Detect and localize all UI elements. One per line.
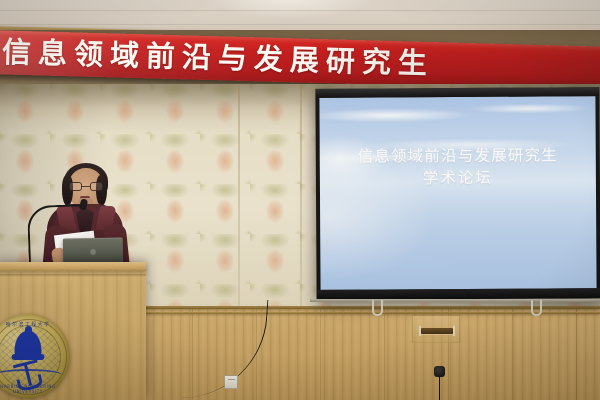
screen-hook-icon [531, 300, 542, 316]
wall-outlet[interactable] [224, 375, 238, 389]
panel-screw [453, 326, 455, 336]
socket-cable [439, 376, 440, 400]
slide-title-line1: 信息领域前沿与发展研究生 [320, 144, 596, 168]
microphone-gooseneck [27, 204, 89, 270]
emblem-chinese-text: 哈尔滨工程大学 [0, 321, 70, 328]
glasses-lens [90, 182, 103, 191]
university-emblem: 哈尔滨工程大学 HARBIN ENGINEERING UNIVERSITY [0, 314, 70, 398]
conference-hall-photo: 信息领域前沿与发展研究生 信息领域前沿与发展研究生 学术论坛 [0, 0, 600, 400]
slide-title: 信息领域前沿与发展研究生 学术论坛 [320, 144, 596, 191]
podium-top-surface [0, 262, 146, 271]
projection-screen: 信息领域前沿与发展研究生 学术论坛 [315, 87, 600, 300]
screen-mount-rail [310, 299, 600, 302]
access-panel[interactable] [412, 315, 460, 343]
banner-text: 信息领域前沿与发展研究生 [2, 38, 435, 79]
slide-title-line2: 学术论坛 [320, 167, 596, 191]
screen-surface: 信息领域前沿与发展研究生 学术论坛 [319, 96, 596, 290]
laptop-logo [90, 249, 96, 255]
glasses-icon [69, 182, 103, 191]
emblem-english-text: HARBIN ENGINEERING UNIVERSITY [0, 384, 70, 394]
ceiling-seam [0, 24, 600, 25]
glasses-lens [69, 182, 82, 191]
wallpaper-seam [300, 84, 302, 306]
screen-roller-housing [315, 87, 599, 98]
wallpaper-seam [238, 84, 240, 306]
screen-hook-icon [372, 300, 383, 316]
ceiling-seam [0, 10, 600, 11]
podium-edge [0, 274, 146, 277]
panel-handle-slot [421, 328, 453, 334]
glasses-bridge [82, 186, 90, 187]
